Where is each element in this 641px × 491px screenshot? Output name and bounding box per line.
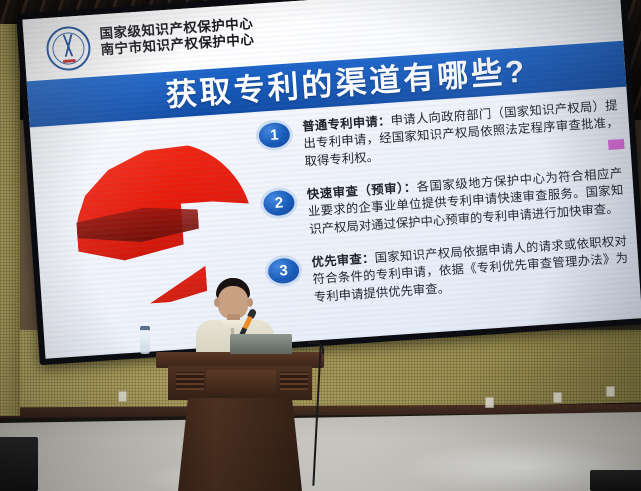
wall-outlet-icon bbox=[606, 386, 615, 397]
bullet-text: 快速审查（预审）：各国家级地方保护中心为符合相应产业要求的企事业单位提供专利申请… bbox=[306, 165, 625, 239]
slide-bullet-list: 1 普通专利申请：申请人向政府部门（国家知识产权局）提出专利申请，经国家知识产权… bbox=[258, 97, 631, 325]
bullet-text: 优先审查：国家知识产权局依据申请人的请求或依职权对符合条件的专利申请，依据《专利… bbox=[311, 233, 630, 307]
bullet-heading: 优先审查： bbox=[311, 251, 375, 269]
slide-content: 国家级知识产权保护中心 南宁市知识产权保护中心 获取专利的渠道有哪些? 1 普通… bbox=[22, 0, 641, 359]
bullet-body: 申请人向政府部门（国家知识产权局）提出专利申请，经国家知识产权局依照法定程序审查… bbox=[303, 98, 619, 168]
floor-equipment-right bbox=[590, 470, 641, 491]
wall-outlet-icon bbox=[118, 391, 127, 402]
podium-column bbox=[178, 398, 302, 491]
wall-panel-left-strip bbox=[0, 24, 20, 416]
wooden-podium bbox=[156, 352, 324, 491]
ear-left bbox=[214, 298, 220, 307]
podium-emblem bbox=[206, 370, 276, 394]
podium-cable-bend bbox=[308, 342, 324, 354]
laptop-on-podium bbox=[230, 334, 292, 354]
bullet-number-badge: 1 bbox=[258, 122, 291, 149]
podium-carving-right bbox=[280, 372, 308, 390]
ear-right bbox=[247, 298, 253, 307]
logo-mark bbox=[55, 33, 82, 57]
red-curved-arrow-graphic bbox=[71, 137, 256, 281]
organization-names: 国家级知识产权保护中心 南宁市知识产权保护中心 bbox=[99, 16, 255, 58]
conference-room-photo: 国家级知识产权保护中心 南宁市知识产权保护中心 获取专利的渠道有哪些? 1 普通… bbox=[0, 0, 641, 491]
screen-pixel-artifact bbox=[608, 139, 625, 150]
led-presentation-screen: 国家级知识产权保护中心 南宁市知识产权保护中心 获取专利的渠道有哪些? 1 普通… bbox=[16, 0, 641, 373]
water-bottle bbox=[140, 330, 150, 354]
bullet-number-badge: 2 bbox=[263, 190, 296, 217]
wall-outlet-icon bbox=[485, 397, 494, 408]
floor-speaker-equipment bbox=[0, 437, 38, 491]
bullet-body: 国家知识产权局依据申请人的请求或依职权对符合条件的专利申请，依据《专利优先审查管… bbox=[312, 234, 628, 304]
red-arc-band bbox=[71, 137, 255, 269]
bullet-body: 各国家级地方保护中心为符合相应产业要求的企事业单位提供专利申请快速审查服务。国家… bbox=[308, 166, 624, 236]
wall-outlet-icon bbox=[553, 392, 562, 403]
podium-carving-left bbox=[176, 372, 204, 390]
ip-protection-center-logo bbox=[45, 25, 92, 72]
bullet-text: 普通专利申请：申请人向政府部门（国家知识产权局）提出专利申请，经国家知识产权局依… bbox=[302, 97, 621, 171]
